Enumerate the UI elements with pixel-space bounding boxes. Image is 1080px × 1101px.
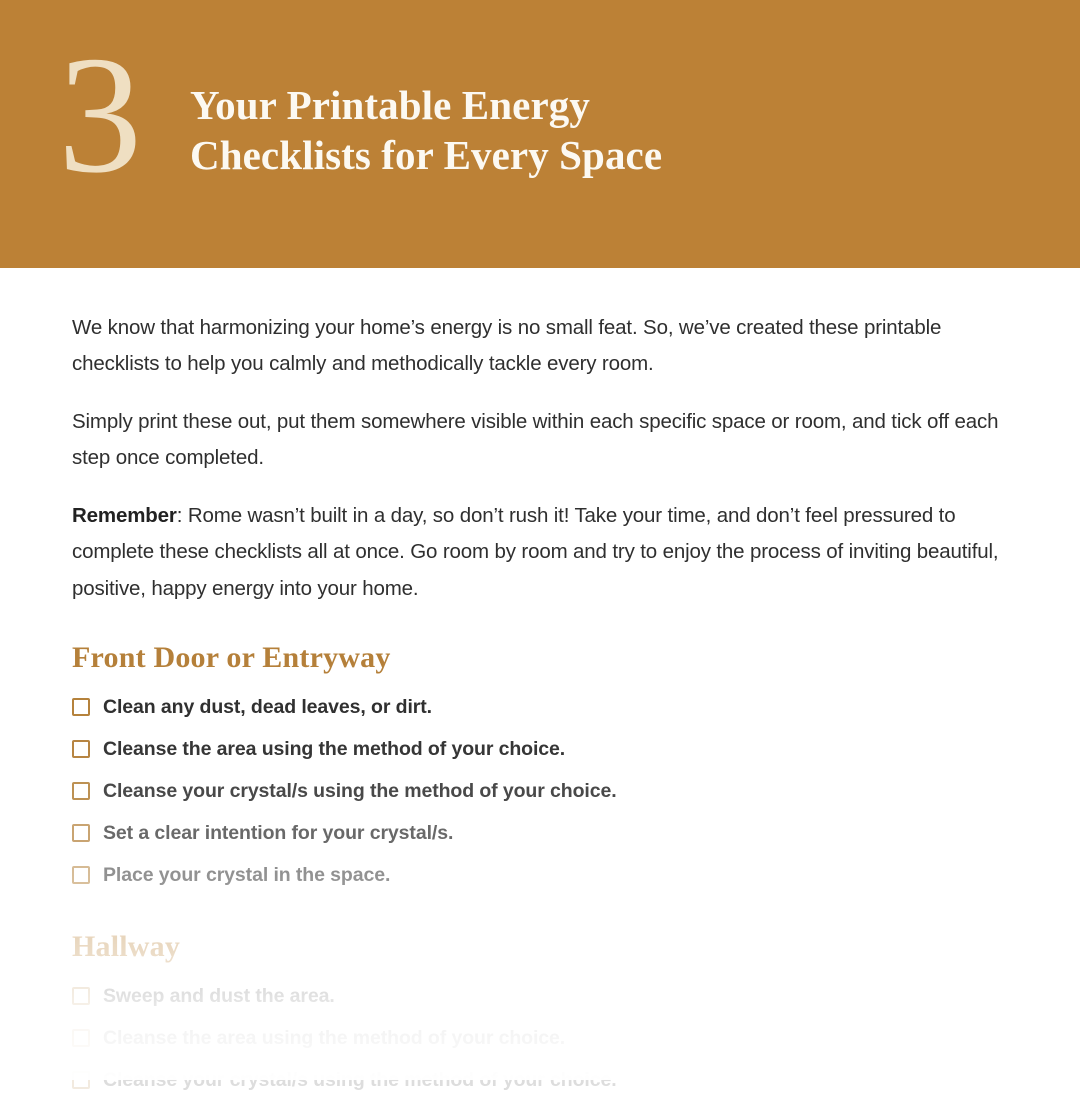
checkbox-icon[interactable] (72, 1071, 90, 1089)
intro-paragraph-1: We know that harmonizing your home’s ene… (72, 310, 1000, 383)
header-inner: 3 Your Printable Energy Checklists for E… (58, 52, 662, 193)
section-front-door-or-entryway: Front Door or Entryway Clean any dust, d… (72, 641, 1008, 896)
checklist-item[interactable]: Place your crystal in the space. (72, 854, 1008, 896)
header-band: 3 Your Printable Energy Checklists for E… (0, 0, 1080, 268)
checklist-item[interactable]: Cleanse the area using the method of you… (72, 1017, 1008, 1059)
section-hallway: Hallway Sweep and dust the area. Cleanse… (72, 930, 1008, 1101)
checklist-item[interactable]: Cleanse the area using the method of you… (72, 728, 1008, 770)
checklist-item[interactable]: Set a clear intention for your crystal/s… (72, 812, 1008, 854)
checklist-item-label: Cleanse your crystal/s using the method … (103, 1069, 617, 1092)
checklist-item-label: Cleanse the area using the method of you… (103, 1027, 565, 1050)
checklist-item-label: Set a clear intention for your crystal/s… (103, 822, 453, 845)
checkbox-icon[interactable] (72, 740, 90, 758)
checklist-item-label: Clean any dust, dead leaves, or dirt. (103, 696, 432, 719)
page-title-line-1: Your Printable Energy (190, 80, 662, 130)
checklist-item[interactable]: Sweep and dust the area. (72, 975, 1008, 1017)
section-heading: Hallway (72, 930, 1008, 964)
checklist-item-label: Cleanse your crystal/s using the method … (103, 780, 617, 803)
checkbox-icon[interactable] (72, 1029, 90, 1047)
paragraph-text: : Rome wasn’t built in a day, so don’t r… (72, 504, 998, 600)
intro-paragraph-2: Simply print these out, put them somewhe… (72, 404, 1000, 477)
remember-label: Remember (72, 504, 177, 527)
checklist-item[interactable]: Cleanse your crystal/s using the method … (72, 1059, 1008, 1101)
paragraph-text: We know that harmonizing your home’s ene… (72, 316, 941, 375)
checkbox-icon[interactable] (72, 782, 90, 800)
checklist-item-label: Cleanse the area using the method of you… (103, 738, 565, 761)
checklist-hallway: Sweep and dust the area. Cleanse the are… (72, 975, 1008, 1101)
paragraph-text: Simply print these out, put them somewhe… (72, 410, 998, 469)
checkbox-icon[interactable] (72, 987, 90, 1005)
checkbox-icon[interactable] (72, 824, 90, 842)
step-number: 3 (58, 38, 190, 193)
page-title-line-2: Checklists for Every Space (190, 130, 662, 180)
checkbox-icon[interactable] (72, 698, 90, 716)
page-title: Your Printable Energy Checklists for Eve… (190, 52, 662, 180)
checklist-item[interactable]: Clean any dust, dead leaves, or dirt. (72, 686, 1008, 728)
section-heading: Front Door or Entryway (72, 641, 1008, 675)
checklist-item-label: Place your crystal in the space. (103, 864, 390, 887)
checklist-item-label: Sweep and dust the area. (103, 985, 335, 1008)
checkbox-icon[interactable] (72, 866, 90, 884)
checklist-front-door-or-entryway: Clean any dust, dead leaves, or dirt. Cl… (72, 686, 1008, 896)
main-content: We know that harmonizing your home’s ene… (0, 268, 1080, 1080)
intro-paragraph-3: Remember: Rome wasn’t built in a day, so… (72, 498, 1000, 607)
checklist-item[interactable]: Cleanse your crystal/s using the method … (72, 770, 1008, 812)
